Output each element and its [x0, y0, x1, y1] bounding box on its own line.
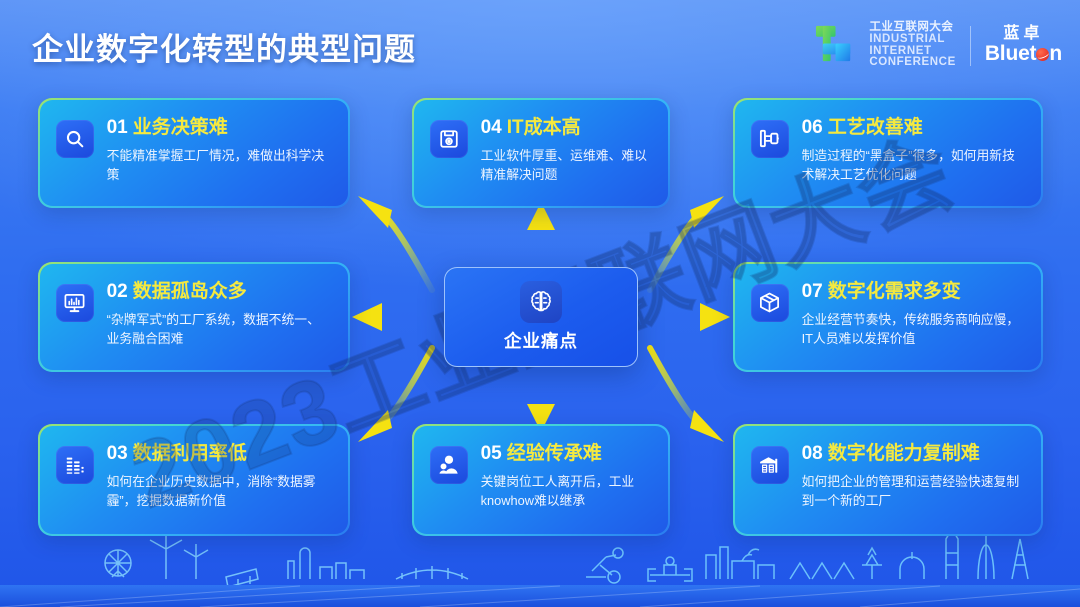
card-number: 04 [481, 117, 502, 138]
card-title: 工艺改善难 [828, 117, 923, 138]
card-heading: 02数据孤岛众多 [107, 282, 333, 302]
card-heading: 05经验传承难 [481, 444, 653, 464]
card-title: 经验传承难 [507, 443, 602, 464]
card-title: 数据利用率低 [133, 443, 247, 464]
card-heading: 04IT成本高 [481, 118, 653, 138]
card-number: 02 [107, 281, 128, 302]
card-description: 企业经营节奏快，传统服务商响应慢，IT人员难以发挥价值 [802, 310, 1026, 349]
card-description: 制造过程的“黑盒子”很多，如何用新技术解决工艺优化问题 [802, 146, 1026, 185]
card-title: IT成本高 [507, 117, 581, 138]
card-number: 06 [802, 117, 823, 138]
search-icon [56, 120, 94, 158]
center-hub[interactable]: 企业痛点 [444, 267, 638, 367]
card-heading: 03数据利用率低 [107, 444, 333, 464]
logo-divider [970, 26, 971, 66]
card-number: 08 [802, 443, 823, 464]
problem-card-02[interactable]: 02数据孤岛众多 “杂牌军式”的工厂系统，数据不统一、业务融合困难 [38, 262, 350, 372]
conference-logo-text: 工业互联网大会 INDUSTRIAL INTERNET CONFERENCE [869, 22, 956, 69]
problem-card-03[interactable]: 03数据利用率低 如何在企业历史数据中，消除“数据雾霾”，挖掘数据新价值 [38, 424, 350, 536]
problem-card-01[interactable]: 01业务决策难 不能精准掌握工厂情况，难做出科学决策 [38, 98, 350, 208]
card-description: “杂牌军式”的工厂系统，数据不统一、业务融合困难 [107, 310, 333, 349]
card-title: 业务决策难 [133, 117, 228, 138]
brain-icon [520, 281, 562, 323]
factory-icon [751, 446, 789, 484]
problem-card-05[interactable]: 05经验传承难 关键岗位工人离开后，工业knowhow难以继承 [412, 424, 670, 536]
conference-name-en-1: INDUSTRIAL [869, 34, 956, 46]
problem-card-08[interactable]: 08数字化能力复制难 如何把企业的管理和运营经验快速复制到一个新的工厂 [733, 424, 1043, 536]
card-heading: 08数字化能力复制难 [802, 444, 1026, 464]
brand-logo: 蓝卓 Bluetn [985, 26, 1062, 65]
card-description: 工业软件厚重、运维难、难以精准解决问题 [481, 146, 653, 185]
logo-group: 工业互联网大会 INDUSTRIAL INTERNET CONFERENCE 蓝… [814, 22, 1062, 69]
problem-card-04[interactable]: 04IT成本高 工业软件厚重、运维难、难以精准解决问题 [412, 98, 670, 208]
card-number: 03 [107, 443, 128, 464]
slide-root: 2023工业互联网大会 企业数字化转型的典型问题 工业互联网大会 [0, 0, 1080, 607]
card-title: 数据孤岛众多 [133, 281, 247, 302]
page-title: 企业数字化转型的典型问题 [32, 24, 416, 69]
card-description: 如何把企业的管理和运营经验快速复制到一个新的工厂 [802, 472, 1026, 511]
brand-name-en-prefix: Bluet [985, 42, 1037, 65]
iic-t-mark-icon [814, 22, 861, 69]
cube-box-icon [751, 284, 789, 322]
card-heading: 01业务决策难 [107, 118, 333, 138]
pipe-valve-icon [751, 120, 789, 158]
red-globe-dot-icon [1036, 48, 1049, 61]
card-title: 数字化需求多变 [828, 281, 961, 302]
card-description: 不能精准掌握工厂情况，难做出科学决策 [107, 146, 333, 185]
bar-chart-icon [56, 446, 94, 484]
card-description: 如何在企业历史数据中，消除“数据雾霾”，挖掘数据新价值 [107, 472, 333, 511]
card-title: 数字化能力复制难 [828, 443, 980, 464]
problem-card-07[interactable]: 07数字化需求多变 企业经营节奏快，传统服务商响应慢，IT人员难以发挥价值 [733, 262, 1043, 372]
card-number: 05 [481, 443, 502, 464]
card-number: 07 [802, 281, 823, 302]
monitor-chart-icon [56, 284, 94, 322]
brand-name-en-suffix: n [1049, 42, 1062, 65]
people-icon [430, 446, 468, 484]
card-heading: 07数字化需求多变 [802, 282, 1026, 302]
card-number: 01 [107, 117, 128, 138]
card-heading: 06工艺改善难 [802, 118, 1026, 138]
card-description: 关键岗位工人离开后，工业knowhow难以继承 [481, 472, 653, 511]
problem-card-06[interactable]: 06工艺改善难 制造过程的“黑盒子”很多，如何用新技术解决工艺优化问题 [733, 98, 1043, 208]
floppy-disk-icon [430, 120, 468, 158]
conference-logo: 工业互联网大会 INDUSTRIAL INTERNET CONFERENCE [814, 22, 956, 69]
conference-name-en-3: CONFERENCE [869, 57, 956, 69]
brand-name-en: Bluetn [985, 43, 1062, 65]
center-hub-label: 企业痛点 [504, 328, 578, 353]
brand-name-cn: 蓝卓 [985, 26, 1062, 43]
